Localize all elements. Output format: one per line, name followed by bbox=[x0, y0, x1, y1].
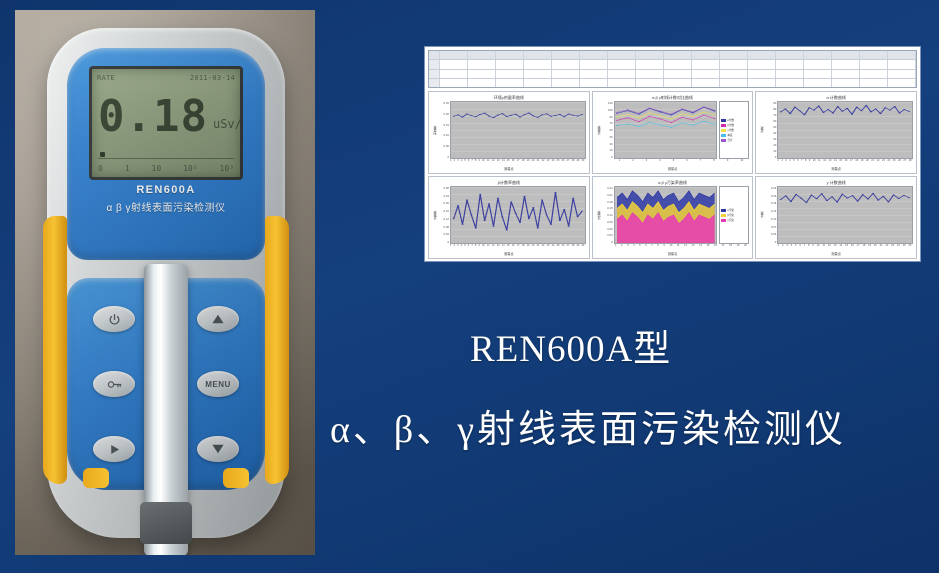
spreadsheet-cell bbox=[776, 60, 804, 68]
spreadsheet-cell bbox=[524, 70, 552, 78]
legend-label: α计数 bbox=[727, 118, 734, 122]
chart-y-tick: 90 bbox=[602, 115, 613, 119]
chart-x-tick: 18 bbox=[862, 244, 865, 251]
chart-y-tick: 0.18 bbox=[602, 200, 613, 204]
spreadsheet-cell bbox=[429, 60, 440, 68]
chart-x-tick: 17 bbox=[857, 244, 860, 251]
data-spreadsheet bbox=[428, 50, 917, 88]
chart-x-tick: 11 bbox=[818, 159, 821, 166]
spreadsheet-cell bbox=[832, 51, 860, 59]
foot-pad-left bbox=[83, 468, 109, 488]
chart-y-tick: 0.20 bbox=[438, 201, 449, 205]
chart-x-tick: 10 bbox=[482, 159, 485, 166]
chart-x-tick: 4 bbox=[789, 159, 790, 166]
spreadsheet-cell bbox=[860, 60, 888, 68]
chart-body: 计数0.220.190.160.130.100.070.040 bbox=[759, 186, 913, 244]
spreadsheet-cell bbox=[664, 51, 692, 59]
product-photo: RATE 2011-03-14 0.18 uSv/h 0 1 10 10² 10… bbox=[15, 10, 315, 555]
chart-x-tick: 24 bbox=[887, 159, 890, 166]
chart-x-tick: 20 bbox=[744, 244, 747, 251]
chart-x-tick: 1 bbox=[450, 159, 451, 166]
chart-x-tick: 18 bbox=[729, 244, 732, 251]
chart-x-tick: 22 bbox=[542, 159, 545, 166]
chart-x-tick: 16 bbox=[512, 159, 515, 166]
chart-body: 计数率0.280.240.200.160.120.080.040 bbox=[432, 186, 586, 244]
chart-x-tick: 3 bbox=[627, 244, 628, 251]
chart-x-tick: 4 bbox=[633, 244, 634, 251]
chart-x-tick: 25 bbox=[903, 244, 906, 251]
spreadsheet-cell bbox=[804, 51, 832, 59]
chart-x-tick: 6 bbox=[799, 244, 800, 251]
spreadsheet-cell bbox=[608, 79, 636, 87]
chart-x-tick: 30 bbox=[581, 244, 584, 251]
chart-x-tick: 1 bbox=[619, 159, 620, 166]
legend-label: γ污染 bbox=[727, 218, 733, 222]
chart-x-tick: 14 bbox=[839, 244, 842, 251]
chart-x-tick: 15 bbox=[507, 244, 510, 251]
chart-x-tick: 18 bbox=[855, 159, 858, 166]
chart-x-tick: 8 bbox=[713, 159, 714, 166]
spreadsheet-cell bbox=[888, 60, 916, 68]
menu-button[interactable]: MENU bbox=[197, 371, 239, 397]
chart-plot-area bbox=[777, 101, 913, 159]
chart-x-tick: 4 bbox=[461, 244, 462, 251]
chart-x-tick: 12 bbox=[823, 159, 826, 166]
lcd-status-row: RATE 2011-03-14 bbox=[97, 72, 235, 84]
spreadsheet-row bbox=[429, 79, 916, 87]
chart-x-tick: 2 bbox=[621, 244, 622, 251]
spreadsheet-cell bbox=[692, 79, 720, 87]
chart-x-tick: 27 bbox=[567, 244, 570, 251]
chart-y-tick: 120 bbox=[602, 101, 613, 105]
chart-x-tick: 2 bbox=[782, 244, 783, 251]
legend-swatch bbox=[721, 119, 726, 122]
chart-y-tick: 50 bbox=[765, 125, 776, 129]
device-brand-block: REN600A α β γ射线表面污染检测仪 bbox=[67, 184, 265, 214]
chart-x-tick: 19 bbox=[527, 244, 530, 251]
chart-x-tick: 4 bbox=[659, 159, 660, 166]
chart-x-tick: 28 bbox=[909, 159, 912, 166]
chart-x-tick: 23 bbox=[891, 244, 894, 251]
chart-x-tick: 3 bbox=[785, 159, 786, 166]
spreadsheet-cell bbox=[692, 51, 720, 59]
chart-x-tick: 15 bbox=[507, 159, 510, 166]
chart-x-tick: 15 bbox=[845, 244, 848, 251]
spreadsheet-cell bbox=[888, 51, 916, 59]
spreadsheet-cell bbox=[552, 60, 580, 68]
chart-y-tick: 0.21 bbox=[602, 193, 613, 197]
chart-y-ticks: 0.280.240.200.160.120.080.040 bbox=[438, 186, 450, 244]
spreadsheet-cell bbox=[748, 79, 776, 87]
chart-x-tick: 20 bbox=[874, 244, 877, 251]
chart-y-tick: 0.16 bbox=[438, 209, 449, 213]
spreadsheet-cell bbox=[524, 51, 552, 59]
side-grip-left bbox=[43, 216, 67, 484]
power-icon bbox=[108, 313, 121, 326]
spreadsheet-cell bbox=[496, 79, 524, 87]
chart-x-tick: 22 bbox=[877, 159, 880, 166]
chart-legend-item: α污染 bbox=[721, 208, 747, 212]
chart-y-tick: 0.12 bbox=[438, 217, 449, 221]
spreadsheet-cell bbox=[664, 70, 692, 78]
chart-x-axis-label: 测量点 bbox=[596, 251, 750, 256]
down-button[interactable] bbox=[197, 436, 239, 462]
chart-y-tick: 90 bbox=[765, 101, 776, 105]
chart-x-tick: 3 bbox=[457, 159, 458, 166]
power-button[interactable] bbox=[93, 306, 135, 332]
chart-x-tick: 17 bbox=[517, 159, 520, 166]
chart-title: α 计数曲线 bbox=[759, 94, 913, 101]
key-button[interactable] bbox=[93, 371, 135, 397]
chart-x-tick: 9 bbox=[812, 244, 813, 251]
chart-x-tick: 5 bbox=[639, 244, 640, 251]
chart-y-ticks: 0.220.190.160.130.100.070.040 bbox=[765, 186, 777, 244]
up-button[interactable] bbox=[197, 306, 239, 332]
spreadsheet-cell bbox=[496, 51, 524, 59]
chart-x-tick: 21 bbox=[880, 244, 883, 251]
chart-y-tick: 60 bbox=[602, 128, 613, 132]
chart-x-axis-label: 测量点 bbox=[432, 166, 586, 171]
key-icon bbox=[107, 378, 122, 391]
spreadsheet-cell bbox=[440, 70, 468, 78]
chart-x-tick: 6 bbox=[645, 244, 646, 251]
chart-plot-area bbox=[614, 186, 718, 244]
chart-y-tick: 0.04 bbox=[438, 232, 449, 236]
chart-panel: α β γ污染率曲线污染率0.240.210.180.150.120.090.0… bbox=[592, 176, 754, 259]
spreadsheet-cell bbox=[468, 70, 496, 78]
chart-y-tick: 60 bbox=[765, 119, 776, 123]
chart-y-tick: 0.07 bbox=[765, 225, 776, 229]
chart-x-tick: 5 bbox=[793, 159, 794, 166]
chart-x-tick: 9 bbox=[663, 244, 664, 251]
spreadsheet-cell bbox=[776, 79, 804, 87]
product-title-block: REN600A型 α、β、γ射线表面污染检测仪 bbox=[330, 318, 930, 453]
chart-x-tick: 4 bbox=[791, 244, 792, 251]
chart-plot-area bbox=[450, 186, 586, 244]
chart-x-tick: 7 bbox=[804, 244, 805, 251]
product-model-title: REN600A型 bbox=[470, 318, 930, 372]
device-subtitle-label: α β γ射线表面污染检测仪 bbox=[67, 199, 265, 214]
triangle-down-icon bbox=[211, 443, 225, 455]
legend-swatch bbox=[721, 219, 726, 222]
chart-y-axis-label: 计数率 bbox=[596, 101, 602, 159]
chart-x-tick: 28 bbox=[572, 159, 575, 166]
lcd-scale-tick: 10 bbox=[152, 164, 162, 173]
side-grip-right bbox=[265, 216, 289, 484]
play-button[interactable] bbox=[93, 436, 135, 462]
chart-x-tick: 14 bbox=[502, 159, 505, 166]
chart-x-tick: 16 bbox=[845, 159, 848, 166]
chart-x-tick: 6 bbox=[468, 244, 469, 251]
chart-plot-area bbox=[777, 186, 913, 244]
chart-x-tick: 17 bbox=[517, 244, 520, 251]
lcd-status-right: 2011-03-14 bbox=[190, 74, 235, 82]
chart-x-tick: 26 bbox=[898, 159, 901, 166]
spreadsheet-cell bbox=[776, 70, 804, 78]
chart-x-tick: 21 bbox=[537, 159, 540, 166]
chart-x-tick: 13 bbox=[497, 244, 500, 251]
spreadsheet-cell bbox=[888, 79, 916, 87]
chart-x-tick: 7 bbox=[700, 159, 701, 166]
chart-body: 剂量率0.250.200.150.100.050 bbox=[432, 101, 586, 159]
chart-x-tick: 15 bbox=[707, 244, 710, 251]
chart-y-tick: 0.12 bbox=[602, 213, 613, 217]
spreadsheet-cell bbox=[664, 60, 692, 68]
chart-body: 计数9080706050403020100 bbox=[759, 101, 913, 159]
legend-label: β污染 bbox=[727, 213, 734, 217]
spreadsheet-cell bbox=[580, 60, 608, 68]
spreadsheet-cell bbox=[888, 70, 916, 78]
keypad-column-left bbox=[93, 306, 135, 462]
chart-legend-item: β污染 bbox=[721, 213, 747, 217]
chart-y-tick: 0.10 bbox=[438, 133, 449, 137]
chart-x-tick: 15 bbox=[839, 159, 842, 166]
chart-y-tick: 105 bbox=[602, 108, 613, 112]
spreadsheet-cell bbox=[748, 60, 776, 68]
slide-background: RATE 2011-03-14 0.18 uSv/h 0 1 10 10² 10… bbox=[0, 0, 939, 573]
spreadsheet-cell bbox=[429, 79, 440, 87]
chart-y-tick: 0.24 bbox=[438, 194, 449, 198]
spreadsheet-cell bbox=[832, 70, 860, 78]
chart-x-tick: 24 bbox=[552, 159, 555, 166]
chart-y-ticks: 0.250.200.150.100.050 bbox=[438, 101, 450, 159]
strap-clip bbox=[140, 502, 192, 544]
spreadsheet-cell bbox=[524, 60, 552, 68]
chart-y-tick: 0.13 bbox=[765, 209, 776, 213]
chart-x-tick: 7 bbox=[651, 244, 652, 251]
chart-x-tick: 24 bbox=[552, 244, 555, 251]
handheld-detector-device: RATE 2011-03-14 0.18 uSv/h 0 1 10 10² 10… bbox=[47, 28, 285, 538]
chart-legend-item: 本底 bbox=[721, 133, 747, 137]
legend-swatch bbox=[721, 139, 726, 142]
chart-x-tick: 8 bbox=[808, 244, 809, 251]
chart-y-tick: 70 bbox=[765, 113, 776, 117]
chart-x-tick: 4 bbox=[461, 159, 462, 166]
chart-x-tick: 9 bbox=[478, 159, 479, 166]
chart-x-ticks: 1234567891011121314151617181920212223242… bbox=[759, 244, 913, 251]
spreadsheet-cell bbox=[720, 51, 748, 59]
chart-x-tick: 6 bbox=[797, 159, 798, 166]
spreadsheet-row bbox=[429, 70, 916, 79]
spreadsheet-cell bbox=[636, 79, 664, 87]
spreadsheet-cell bbox=[580, 51, 608, 59]
chart-y-tick: 0.22 bbox=[765, 186, 776, 190]
chart-x-tick: 10 bbox=[813, 159, 816, 166]
spreadsheet-cell bbox=[468, 51, 496, 59]
chart-x-tick: 23 bbox=[547, 244, 550, 251]
chart-y-tick: 0.09 bbox=[602, 220, 613, 224]
chart-x-tick: 25 bbox=[893, 159, 896, 166]
spreadsheet-cell bbox=[664, 79, 692, 87]
spreadsheet-cell bbox=[748, 70, 776, 78]
chart-panel: 环境γ剂量率曲线剂量率0.250.200.150.100.05012345678… bbox=[428, 91, 590, 174]
chart-x-tick: 2 bbox=[781, 159, 782, 166]
chart-x-tick: 30 bbox=[581, 159, 584, 166]
spreadsheet-cell bbox=[496, 70, 524, 78]
spreadsheet-cell bbox=[748, 51, 776, 59]
play-icon bbox=[108, 443, 121, 456]
chart-x-axis-label: 测量点 bbox=[759, 251, 913, 256]
legend-swatch bbox=[721, 214, 726, 217]
chart-x-tick: 29 bbox=[576, 244, 579, 251]
spreadsheet-cell bbox=[720, 60, 748, 68]
chart-y-ticks: 1201059075604530150 bbox=[602, 101, 614, 159]
chart-x-tick: 10 bbox=[482, 244, 485, 251]
lcd-reading: 0.18 uSv/h bbox=[98, 86, 234, 148]
spreadsheet-cell bbox=[804, 70, 832, 78]
spreadsheet-cell bbox=[692, 60, 720, 68]
chart-x-tick: 28 bbox=[572, 244, 575, 251]
chart-legend-item: γ计数 bbox=[721, 128, 747, 132]
chart-x-tick: 1 bbox=[615, 244, 616, 251]
chart-legend-item: α计数 bbox=[721, 118, 747, 122]
spreadsheet-cell bbox=[429, 51, 440, 59]
chart-x-tick: 23 bbox=[882, 159, 885, 166]
chart-panel: γ 计数曲线计数0.220.190.160.130.100.070.040123… bbox=[755, 176, 917, 259]
chart-x-tick: 6 bbox=[686, 159, 687, 166]
chart-x-tick: 22 bbox=[885, 244, 888, 251]
chart-title: α β γ射线计数对比曲线 bbox=[596, 94, 750, 101]
spreadsheet-cell bbox=[860, 79, 888, 87]
spreadsheet-cell bbox=[524, 79, 552, 87]
chart-x-tick: 11 bbox=[487, 244, 490, 251]
chart-y-tick: 0.19 bbox=[765, 194, 776, 198]
chart-title: γ 计数曲线 bbox=[759, 179, 913, 186]
lcd-scale-tick: 10² bbox=[183, 164, 197, 173]
chart-x-tick: 10 bbox=[669, 244, 672, 251]
chart-y-tick: 10 bbox=[765, 149, 776, 153]
spreadsheet-cell bbox=[468, 79, 496, 87]
legend-swatch bbox=[721, 209, 726, 212]
chart-x-tick: 3 bbox=[457, 244, 458, 251]
chart-x-tick: 20 bbox=[532, 159, 535, 166]
chart-x-tick: 20 bbox=[532, 244, 535, 251]
chart-body: 计数率1201059075604530150α计数β计数γ计数本底合计 bbox=[596, 101, 750, 159]
chart-x-tick: 7 bbox=[471, 159, 472, 166]
chart-y-tick: 15 bbox=[602, 148, 613, 152]
chart-x-tick: 21 bbox=[871, 159, 874, 166]
chart-x-tick: 9 bbox=[809, 159, 810, 166]
chart-y-tick: 30 bbox=[765, 137, 776, 141]
chart-x-tick: 21 bbox=[537, 244, 540, 251]
spreadsheet-cell bbox=[429, 70, 440, 78]
chart-y-tick: 0.03 bbox=[602, 233, 613, 237]
chart-x-tick: 5 bbox=[464, 159, 465, 166]
chart-x-tick: 19 bbox=[527, 159, 530, 166]
chart-x-tick: 22 bbox=[542, 244, 545, 251]
chart-x-tick: 27 bbox=[903, 159, 906, 166]
chart-x-tick: 13 bbox=[829, 159, 832, 166]
chart-x-tick: 25 bbox=[557, 159, 560, 166]
chart-y-tick: 75 bbox=[602, 121, 613, 125]
chart-y-tick: 0.15 bbox=[438, 123, 449, 127]
chart-x-tick: 13 bbox=[692, 244, 695, 251]
chart-x-tick: 16 bbox=[851, 244, 854, 251]
chart-y-tick: 40 bbox=[765, 131, 776, 135]
chart-y-tick: 0.24 bbox=[602, 186, 613, 190]
lcd-unit: uSv/h bbox=[213, 117, 243, 131]
chart-y-tick: 0.10 bbox=[765, 217, 776, 221]
chart-x-tick: 13 bbox=[497, 159, 500, 166]
chart-y-tick: 80 bbox=[765, 107, 776, 111]
chart-legend-item: γ污染 bbox=[721, 218, 747, 222]
chart-y-tick: 0.06 bbox=[602, 227, 613, 231]
chart-x-tick: 16 bbox=[714, 244, 717, 251]
chart-x-tick: 9 bbox=[727, 159, 728, 166]
chart-y-tick: 45 bbox=[602, 135, 613, 139]
chart-x-tick: 26 bbox=[562, 159, 565, 166]
legend-label: γ计数 bbox=[727, 128, 733, 132]
spreadsheet-cell bbox=[636, 70, 664, 78]
chart-x-tick: 17 bbox=[850, 159, 853, 166]
chart-y-axis-label: 计数 bbox=[759, 101, 765, 159]
chart-title: α β γ污染率曲线 bbox=[596, 179, 750, 186]
chart-y-tick: 0.20 bbox=[438, 112, 449, 116]
spreadsheet-cell bbox=[552, 79, 580, 87]
chart-x-tick: 14 bbox=[834, 159, 837, 166]
lcd-value: 0.18 bbox=[98, 95, 208, 139]
chart-body: 污染率0.240.210.180.150.120.090.060.030α污染β… bbox=[596, 186, 750, 244]
chart-y-tick: 0.15 bbox=[602, 206, 613, 210]
spreadsheet-cell bbox=[720, 79, 748, 87]
chart-y-axis-label: 剂量率 bbox=[432, 101, 438, 159]
chart-y-axis-label: 计数 bbox=[759, 186, 765, 244]
chart-x-tick: 9 bbox=[478, 244, 479, 251]
chart-panel: β计数率曲线计数率0.280.240.200.160.120.080.04012… bbox=[428, 176, 590, 259]
chart-y-tick: 0.08 bbox=[438, 225, 449, 229]
keypad-column-right: MENU bbox=[197, 306, 239, 462]
spreadsheet-cell bbox=[608, 60, 636, 68]
chart-x-tick: 10 bbox=[817, 244, 820, 251]
chart-x-tick: 5 bbox=[464, 244, 465, 251]
chart-x-tick: 18 bbox=[522, 159, 525, 166]
spreadsheet-cell bbox=[608, 70, 636, 78]
chart-x-tick: 8 bbox=[475, 159, 476, 166]
chart-x-tick: 14 bbox=[699, 244, 702, 251]
chart-x-tick: 14 bbox=[502, 244, 505, 251]
chart-x-tick: 19 bbox=[737, 244, 740, 251]
legend-swatch bbox=[721, 134, 726, 137]
chart-x-tick: 5 bbox=[673, 159, 674, 166]
chart-x-tick: 3 bbox=[646, 159, 647, 166]
legend-swatch bbox=[721, 124, 726, 127]
spreadsheet-cell bbox=[720, 70, 748, 78]
spreadsheet-row bbox=[429, 60, 916, 69]
spreadsheet-cell bbox=[468, 60, 496, 68]
spreadsheet-cell bbox=[440, 79, 468, 87]
chart-x-tick: 19 bbox=[868, 244, 871, 251]
chart-x-tick: 2 bbox=[454, 159, 455, 166]
spreadsheet-cell bbox=[440, 60, 468, 68]
foot-pad-right bbox=[223, 468, 249, 488]
triangle-up-icon bbox=[211, 313, 225, 325]
chart-x-ticks: 1234567891011121314151617181920212223242… bbox=[432, 244, 586, 251]
spreadsheet-cell bbox=[776, 51, 804, 59]
menu-button-label: MENU bbox=[205, 380, 231, 389]
lcd-scale-tick: 1 bbox=[125, 164, 130, 173]
chart-x-tick: 1 bbox=[450, 244, 451, 251]
chart-x-tick: 12 bbox=[492, 244, 495, 251]
spreadsheet-header-row bbox=[429, 51, 916, 60]
chart-legend-item: 合计 bbox=[721, 138, 747, 142]
device-upper-face: RATE 2011-03-14 0.18 uSv/h 0 1 10 10² 10… bbox=[67, 48, 265, 260]
chart-x-tick: 12 bbox=[828, 244, 831, 251]
chart-x-tick: 11 bbox=[677, 244, 680, 251]
lcd-scale-tick: 10³ bbox=[220, 164, 234, 173]
spreadsheet-cell bbox=[552, 51, 580, 59]
legend-swatch bbox=[721, 129, 726, 132]
chart-x-tick: 11 bbox=[487, 159, 490, 166]
